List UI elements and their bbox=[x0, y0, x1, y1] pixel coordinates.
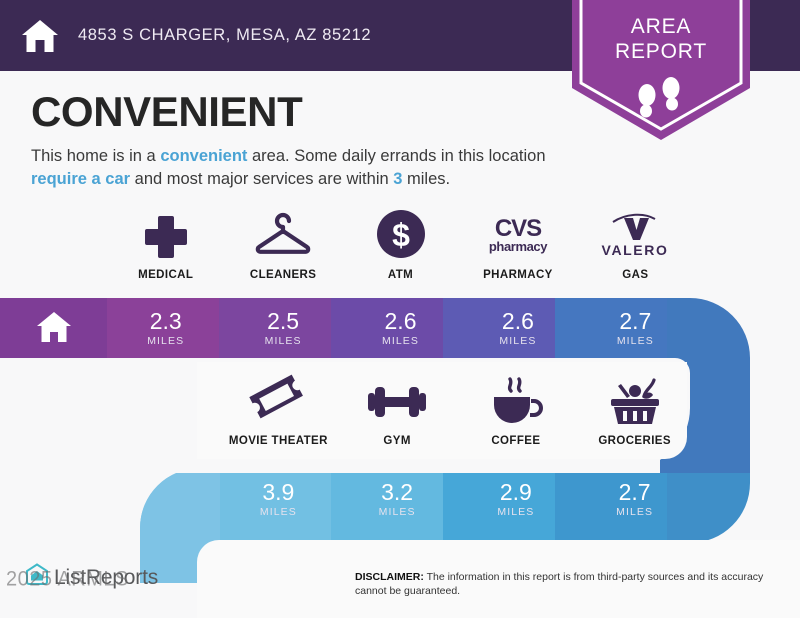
intro-text-1: This home is in a bbox=[31, 147, 160, 165]
category-gym[interactable]: GYM bbox=[338, 374, 457, 447]
disclaimer: DISCLAIMER: The information in this repo… bbox=[355, 570, 785, 598]
category-label: COFFEE bbox=[491, 435, 540, 447]
disclaimer-label: DISCLAIMER: bbox=[355, 571, 424, 583]
intro-highlight-convenient: convenient bbox=[160, 147, 247, 165]
intro-paragraph: This home is in a convenient area. Some … bbox=[31, 145, 576, 191]
intro-text-2: area. Some daily errands in this locatio… bbox=[247, 147, 545, 165]
ribbon-house-icon bbox=[36, 310, 72, 344]
dumbbell-icon bbox=[366, 374, 428, 426]
category-label: MEDICAL bbox=[138, 269, 193, 281]
svg-text:CVS: CVS bbox=[495, 215, 542, 242]
category-atm[interactable]: $ ATM bbox=[342, 208, 459, 281]
hanger-icon bbox=[252, 208, 314, 260]
category-label: PHARMACY bbox=[483, 269, 553, 281]
grocery-basket-icon bbox=[604, 374, 666, 426]
page-title: CONVENIENT bbox=[31, 88, 302, 136]
medical-cross-icon bbox=[141, 208, 191, 260]
category-label: GAS bbox=[622, 269, 648, 281]
coffee-cup-icon bbox=[487, 374, 545, 426]
svg-text:$: $ bbox=[392, 217, 410, 253]
intro-text-3: and most major services are within bbox=[130, 170, 393, 188]
dollar-circle-icon: $ bbox=[375, 208, 427, 260]
armls-watermark: 2025 ARMLS bbox=[6, 567, 129, 592]
intro-highlight-require-a-car: require a car bbox=[31, 170, 130, 188]
intro-text-4: miles. bbox=[402, 170, 450, 188]
category-label: GROCERIES bbox=[598, 435, 671, 447]
category-gas[interactable]: VALERO GAS bbox=[577, 208, 694, 281]
valero-logo: VALERO bbox=[595, 208, 675, 260]
property-address: 4853 S CHARGER, MESA, AZ 85212 bbox=[78, 26, 371, 45]
category-medical[interactable]: MEDICAL bbox=[107, 208, 224, 281]
category-groceries[interactable]: GROCERIES bbox=[575, 374, 694, 447]
row2-icons: MOVIE THEATER GYM bbox=[219, 374, 694, 447]
house-icon bbox=[20, 16, 60, 56]
category-coffee[interactable]: COFFEE bbox=[457, 374, 576, 447]
category-label: GYM bbox=[383, 435, 410, 447]
category-label: MOVIE THEATER bbox=[229, 435, 328, 447]
svg-text:VALERO: VALERO bbox=[602, 242, 669, 258]
area-report-badge: AREA REPORT bbox=[572, 0, 750, 140]
category-pharmacy[interactable]: CVS pharmacy PHARMACY bbox=[459, 208, 576, 281]
category-cleaners[interactable]: CLEANERS bbox=[224, 208, 341, 281]
category-movie-theater[interactable]: MOVIE THEATER bbox=[219, 374, 338, 447]
cvs-pharmacy-logo: CVS pharmacy bbox=[481, 208, 555, 260]
category-label: ATM bbox=[388, 269, 413, 281]
svg-text:pharmacy: pharmacy bbox=[489, 239, 548, 254]
row1-icons: MEDICAL CLEANERS $ ATM bbox=[107, 208, 694, 281]
area-report-page: 4853 S CHARGER, MESA, AZ 85212 AREA REPO… bbox=[0, 0, 800, 618]
category-label: CLEANERS bbox=[250, 269, 316, 281]
ticket-icon bbox=[248, 374, 308, 426]
